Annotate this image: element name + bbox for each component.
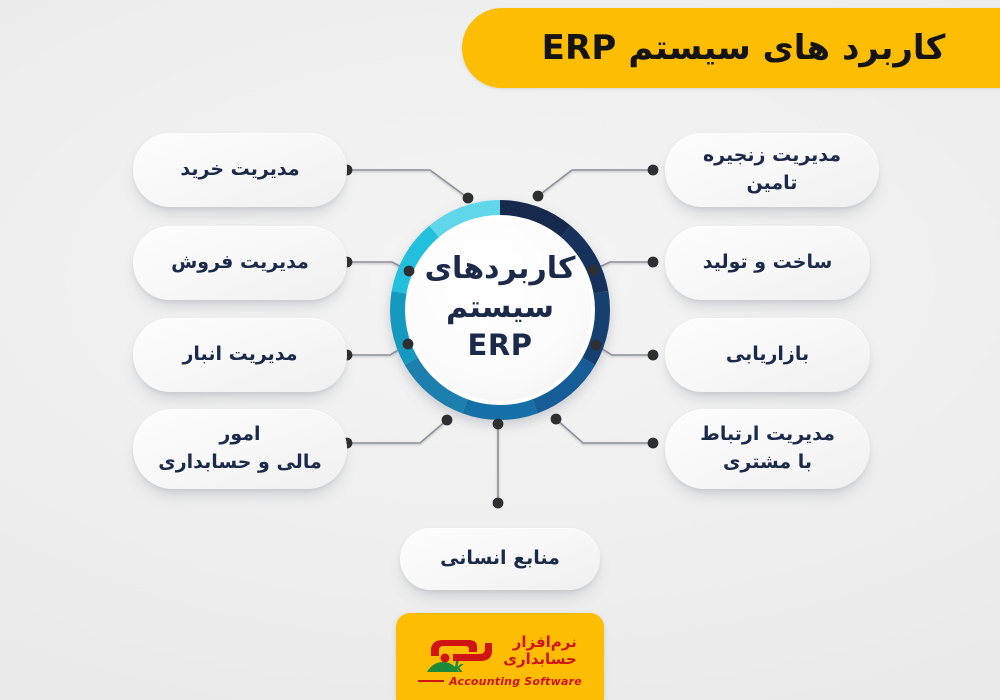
node-customer-relationship-management[interactable]: مدیریت ارتباط با مشتری	[665, 409, 870, 489]
infographic-canvas: کاربرد های سیستم ERP	[0, 0, 1000, 700]
logo-persian-text: نرم‌افزار حسابداری	[503, 634, 577, 668]
svg-text:ak: ak	[444, 660, 464, 674]
node-label: امور مالی و حسابداری	[158, 421, 321, 476]
node-label: بازاریابی	[726, 341, 809, 369]
node-marketing[interactable]: بازاریابی	[665, 318, 870, 392]
node-label: مدیریت ارتباط با مشتری	[700, 421, 835, 476]
erp-donut-ring	[390, 200, 610, 420]
node-sales-management[interactable]: مدیریت فروش	[133, 226, 347, 300]
node-warehouse-management[interactable]: مدیریت انبار	[133, 318, 347, 392]
node-label: ساخت و تولید	[703, 249, 833, 277]
logo-tagline-row: Accounting Software	[418, 675, 582, 688]
node-label: منابع انسانی	[440, 545, 560, 573]
node-label: مدیریت فروش	[171, 249, 309, 277]
node-supply-chain-management[interactable]: مدیریت زنجیره تامین	[665, 133, 879, 207]
logo-rule-icon	[418, 680, 444, 682]
mahak-logo-icon: ak	[423, 628, 497, 674]
node-label: مدیریت زنجیره تامین	[679, 142, 865, 197]
node-manufacturing-production[interactable]: ساخت و تولید	[665, 226, 870, 300]
node-purchase-management[interactable]: مدیریت خرید	[133, 133, 347, 207]
node-label: مدیریت خرید	[180, 156, 299, 184]
node-human-resources[interactable]: منابع انسانی	[400, 528, 600, 590]
brand-logo[interactable]: نرم‌افزار حسابداری ak Account	[396, 613, 604, 700]
node-finance-accounting[interactable]: امور مالی و حسابداری	[133, 409, 347, 489]
node-label: مدیریت انبار	[182, 341, 297, 369]
logo-tagline: Accounting Software	[449, 675, 582, 688]
